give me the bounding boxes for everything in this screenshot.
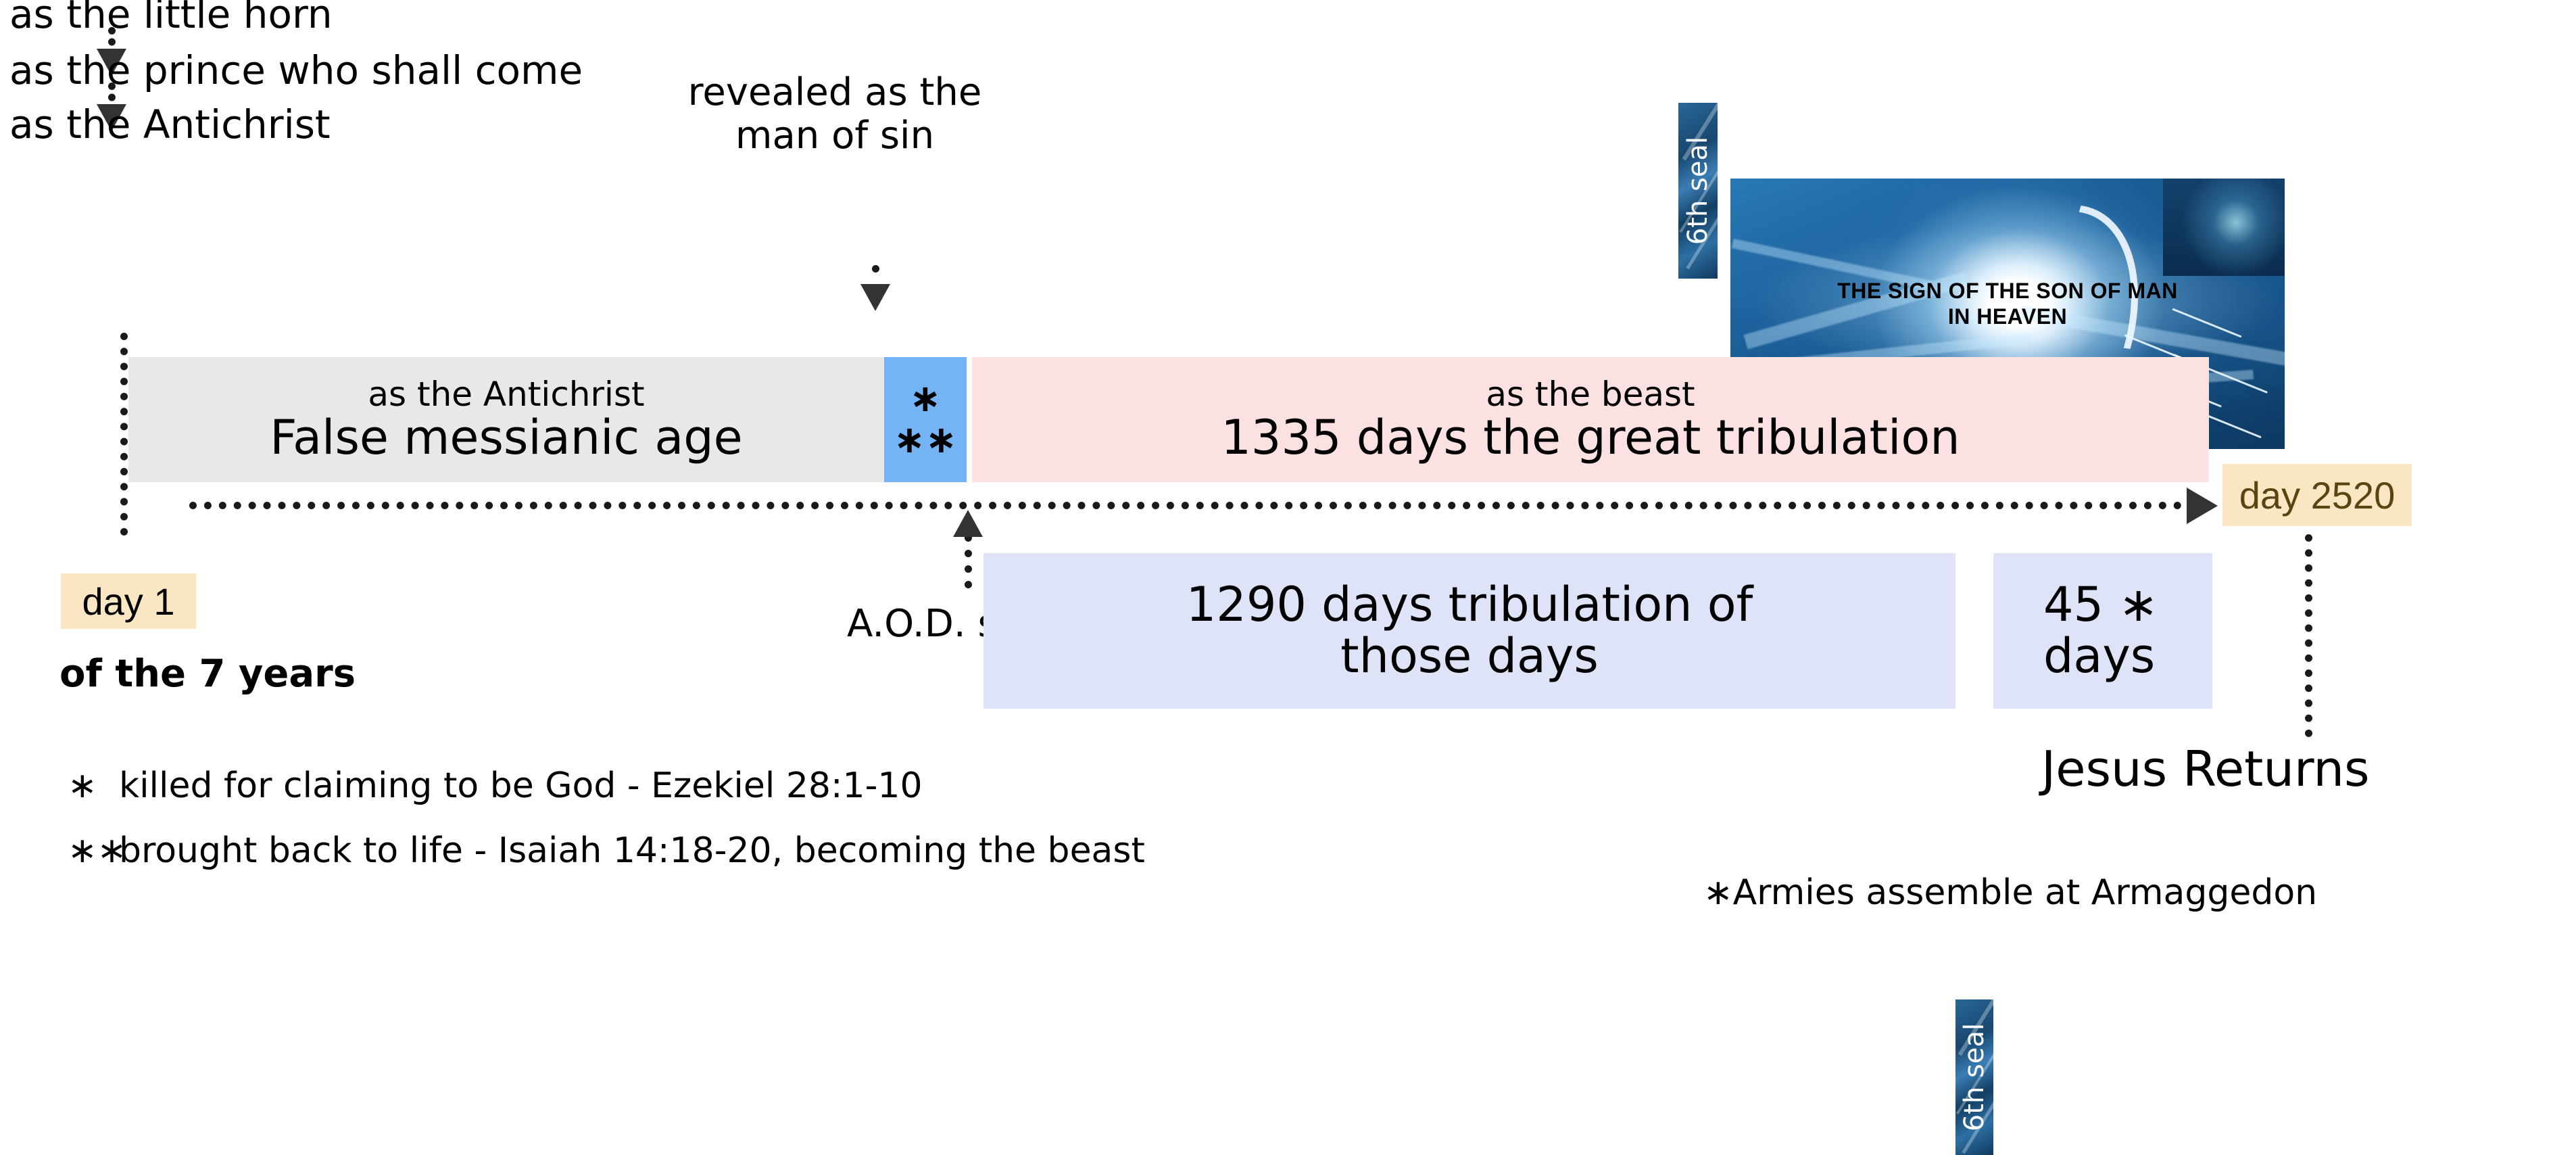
footnote-row-1: ∗killed for claiming to be God - Ezekiel… [68, 765, 923, 806]
chain-label-text: as the Antichrist [9, 101, 331, 147]
heaven-caption-line-1: THE SIGN OF THE SON OF MAN [1730, 279, 2285, 304]
of-the-7-years-label: of the 7 years [59, 652, 356, 696]
day-1-label: day 1 [82, 580, 175, 623]
footnote-text-2: brought back to life - Isaiah 14:18-20, … [119, 830, 1145, 871]
heaven-caption: THE SIGN OF THE SON OF MAN IN HEAVEN [1730, 279, 2285, 330]
segment-beast-main-label: 1335 days the great tribulation [1221, 412, 1960, 464]
chain-label-antichrist: as the Antichrist [9, 105, 331, 144]
armageddon-marker: ∗ [1703, 872, 1733, 913]
day-1-badge: day 1 [61, 573, 196, 629]
armageddon-text: Armies assemble at Armaggedon [1733, 872, 2318, 913]
armageddon-note: ∗Armies assemble at Armaggedon [1703, 872, 2317, 913]
seal-badge-text: 6th seal [1961, 1023, 1988, 1131]
seal-badge-text: 6th seal [1684, 137, 1711, 245]
day-1-guide-line [120, 333, 128, 536]
segment-false-messianic-age: as the Antichrist False messianic age [128, 357, 884, 482]
heaven-caption-line-2: IN HEAVEN [1730, 304, 2285, 330]
day-2520-label: day 2520 [2239, 473, 2395, 517]
jesus-returns-label: Jesus Returns [2041, 740, 2370, 797]
segment-antichrist-main-label: False messianic age [270, 412, 742, 464]
main-timeline-arrowhead-icon [2187, 488, 2218, 524]
revealed-line-2: man of sin [673, 114, 997, 158]
revealed-arrow-icon [872, 265, 879, 292]
footnote-text-1: killed for claiming to be God - Ezekiel … [119, 765, 923, 806]
segment-beast-top-label: as the beast [1486, 376, 1695, 412]
main-timeline-line [189, 502, 2197, 509]
chain-label-text: as the prince who shall come [9, 47, 583, 93]
segment-1290-days-tribulation: 1290 days tribulation of those days [983, 553, 1955, 709]
segment-45-line-2: days [2043, 631, 2155, 682]
segment-45-line-1: 45 ∗ [2043, 580, 2158, 631]
chain-label-text: as the little horn [9, 0, 333, 37]
segment-antichrist-top-label: as the Antichrist [368, 376, 644, 412]
revealed-as-man-of-sin-label: revealed as the man of sin [673, 71, 997, 158]
chain-label-little-horn: as the little horn [9, 0, 333, 34]
segment-1290-line-2: those days [1340, 631, 1599, 682]
segment-45-days: 45 ∗ days [1993, 553, 2212, 709]
revealed-line-1: revealed as the [673, 71, 997, 114]
footnote-marker-2: ∗∗ [68, 830, 119, 871]
footnote-marker-1: ∗ [68, 765, 119, 806]
day-2520-guide-line [2305, 534, 2312, 737]
aod-setup-arrow-icon [965, 534, 972, 588]
star-marker-two: ∗∗ [884, 420, 967, 461]
lower-6th-seal-badge: 6th seal [1955, 999, 1993, 1155]
day-2520-badge: day 2520 [2222, 464, 2412, 526]
chain-label-prince: as the prince who shall come [9, 51, 583, 90]
star-marker-one: ∗ [884, 379, 967, 419]
heaven-6th-seal-badge: 6th seal [1678, 103, 1718, 279]
segment-star-marker: ∗ ∗∗ [884, 357, 967, 482]
segment-1290-line-1: 1290 days tribulation of [1186, 580, 1753, 631]
jesus-returns-text: Jesus Returns [2041, 740, 2370, 797]
of-the-7-years-text: of the 7 years [59, 652, 356, 696]
segment-great-tribulation: as the beast 1335 days the great tribula… [972, 357, 2209, 482]
footnote-row-2: ∗∗brought back to life - Isaiah 14:18-20… [68, 830, 1145, 871]
